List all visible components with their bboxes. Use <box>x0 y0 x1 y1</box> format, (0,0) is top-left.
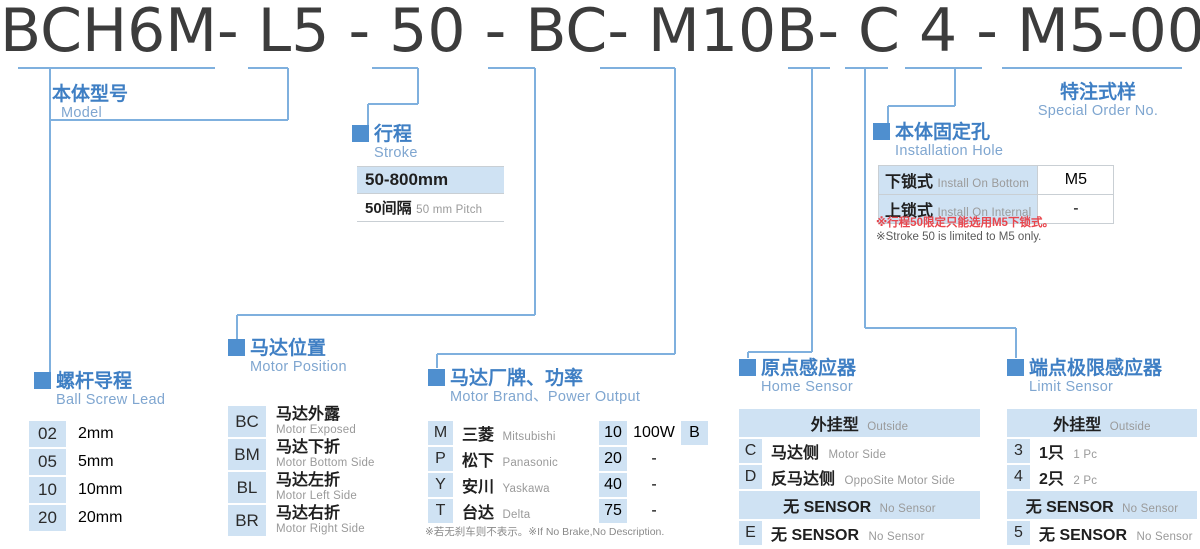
ball-screw-lead-row-1-value: 5mm <box>68 449 178 475</box>
section-home-sensor-title-cn: 原点感应器 <box>761 357 856 379</box>
limit-sensor-row-0-en: 1 Pc <box>1073 449 1097 461</box>
table-row: BM 马达下折 Motor Bottom Side <box>228 439 408 470</box>
ball-screw-lead-row-0-value: 2mm <box>68 421 178 447</box>
limit-sensor-row-1-cn: 2只 <box>1039 471 1064 488</box>
motor-brand-row-0-en: Mitsubishi <box>502 431 555 443</box>
motor-brand-row-2-code: Y <box>428 473 453 497</box>
motor-brand-row-2-cn: 安川 <box>462 479 494 496</box>
section-motor-brand: 马达厂牌、功率 Motor Brand、Power Output <box>428 368 640 406</box>
table-row: BR 马达右折 Motor Right Side <box>228 505 408 536</box>
table-row: Y 安川 Yaskawa 40 - <box>428 473 708 497</box>
section-motor-position-title-en: Motor Position <box>250 359 347 376</box>
bullet-square-icon <box>34 372 51 389</box>
home-sensor-row-2-desc: 无 SENSOR No Sensor <box>764 521 980 545</box>
section-motor-position-heading: 马达位置 <box>228 338 347 359</box>
table-row: 外挂型 Outside <box>739 409 980 437</box>
section-stroke-heading: 行程 <box>352 124 418 145</box>
home-sensor-row-0-cn: 马达侧 <box>771 445 819 462</box>
section-motor-brand-heading: 马达厂牌、功率 <box>428 368 640 389</box>
home-sensor-row-0-en: Motor Side <box>828 449 886 461</box>
section-motor-position: 马达位置 Motor Position <box>228 338 347 376</box>
model-code-diagram: BCH6M- L5 - 50 - BC- M10B- C 4 - M5-0001 <box>0 0 1200 549</box>
home-sensor-row-0-desc: 马达侧 Motor Side <box>764 439 980 463</box>
bullet-square-icon <box>739 359 756 376</box>
installation-hole-row-0-label: 下锁式 Install On Bottom <box>879 166 1038 195</box>
limit-sensor-row-2-code: 5 <box>1007 521 1030 545</box>
stroke-pitch-cn: 50间隔 <box>365 200 412 217</box>
table-row: 10 10mm <box>29 477 178 503</box>
limit-sensor-row-1-desc: 2只 2 Pc <box>1032 465 1197 489</box>
table-row: E 无 SENSOR No Sensor <box>739 521 980 545</box>
motor-position-row-3-code: BR <box>228 505 266 536</box>
section-limit-sensor-heading: 端点极限感应器 <box>1007 358 1162 379</box>
motor-brand-row-0-cn: 三菱 <box>462 427 494 444</box>
table-row: D 反马达侧 OppoSite Motor Side <box>739 465 980 489</box>
home-sensor-table: 外挂型 Outside C 马达侧 Motor Side D 反马达侧 Oppo… <box>737 407 982 547</box>
home-sensor-row-2-en: No Sensor <box>868 531 924 543</box>
installation-hole-notes: ※行程50限定只能选用M5下锁式。 ※Stroke 50 is limited … <box>876 216 1054 244</box>
motor-position-row-2-en: Motor Left Side <box>276 490 408 503</box>
ball-screw-lead-row-0-code: 02 <box>29 421 66 447</box>
section-installation-hole-title-en: Installation Hole <box>895 143 1003 160</box>
limit-sensor-group-2-en: No Sensor <box>1122 503 1178 515</box>
table-row: 5 无 SENSOR No Sensor <box>1007 521 1197 545</box>
bullet-square-icon <box>873 123 890 140</box>
stroke-pitch: 50间隔 50 mm Pitch <box>357 194 504 222</box>
limit-sensor-row-0-code: 3 <box>1007 439 1030 463</box>
limit-sensor-group-1-en: Outside <box>1110 421 1151 433</box>
limit-sensor-row-0-desc: 1只 1 Pc <box>1032 439 1197 463</box>
motor-position-row-1-cn: 马达下折 <box>276 439 408 457</box>
section-ball-screw-lead-title-cn: 螺杆导程 <box>56 370 132 392</box>
table-row: 下锁式 Install On Bottom M5 <box>879 166 1114 195</box>
limit-sensor-row-0-cn: 1只 <box>1039 445 1064 462</box>
stroke-table: 50-800mm 50间隔 50 mm Pitch <box>357 166 504 222</box>
table-row: 3 1只 1 Pc <box>1007 439 1197 463</box>
home-sensor-group-1-en: Outside <box>867 421 908 433</box>
section-installation-hole-heading: 本体固定孔 <box>873 122 1003 143</box>
motor-position-row-0-code: BC <box>228 406 266 437</box>
home-sensor-row-2-code: E <box>739 521 762 545</box>
table-row: BC 马达外露 Motor Exposed <box>228 406 408 437</box>
section-installation-hole-title-cn: 本体固定孔 <box>895 121 990 143</box>
home-sensor-row-2-cn: 无 SENSOR <box>771 527 859 544</box>
section-special-order-title-cn: 特注式样 <box>1008 82 1188 103</box>
stroke-pitch-en: 50 mm Pitch <box>416 204 482 216</box>
table-row: 4 2只 2 Pc <box>1007 465 1197 489</box>
bullet-square-icon <box>228 339 245 356</box>
limit-sensor-group-1-cn: 外挂型 <box>1053 417 1101 434</box>
motor-position-row-2-desc: 马达左折 Motor Left Side <box>268 472 408 503</box>
motor-brand-row-2-brand: 安川 Yaskawa <box>455 473 597 497</box>
home-sensor-group-2-header: 无 SENSOR No Sensor <box>739 491 980 519</box>
limit-sensor-group-2-cn: 无 SENSOR <box>1026 499 1114 516</box>
motor-position-row-3-desc: 马达右折 Motor Right Side <box>268 505 408 536</box>
motor-power-row-2-code: 40 <box>599 473 627 497</box>
installation-hole-note-en: ※Stroke 50 is limited to M5 only. <box>876 230 1054 244</box>
motor-position-row-1-en: Motor Bottom Side <box>276 457 408 470</box>
section-ball-screw-lead: 螺杆导程 Ball Screw Lead <box>34 371 165 409</box>
motor-brand-row-3-brand: 台达 Delta <box>455 499 597 523</box>
ball-screw-lead-row-2-value: 10mm <box>68 477 178 503</box>
ball-screw-lead-row-3-value: 20mm <box>68 505 178 531</box>
home-sensor-row-1-code: D <box>739 465 762 489</box>
section-model: 本体型号 Model <box>52 84 128 122</box>
table-row: 02 2mm <box>29 421 178 447</box>
motor-power-row-1-value: - <box>629 447 679 471</box>
motor-position-row-3-en: Motor Right Side <box>276 523 408 536</box>
section-home-sensor-heading: 原点感应器 <box>739 358 856 379</box>
section-installation-hole: 本体固定孔 Installation Hole <box>873 122 1003 160</box>
limit-sensor-row-2-en: No Sensor <box>1136 531 1192 543</box>
ball-screw-lead-table: 02 2mm 05 5mm 10 10mm 20 20mm <box>27 419 180 533</box>
motor-brake-row-2-code <box>681 473 708 497</box>
table-row: BL 马达左折 Motor Left Side <box>228 472 408 503</box>
section-motor-brand-title-cn: 马达厂牌、功率 <box>450 367 583 389</box>
motor-power-row-1-code: 20 <box>599 447 627 471</box>
table-row: C 马达侧 Motor Side <box>739 439 980 463</box>
motor-brand-row-1-cn: 松下 <box>462 453 494 470</box>
motor-brand-table: M 三菱 Mitsubishi 10 100W B P 松下 Panasonic… <box>426 419 710 525</box>
limit-sensor-group-2-header: 无 SENSOR No Sensor <box>1007 491 1197 519</box>
motor-position-row-2-code: BL <box>228 472 266 503</box>
section-home-sensor: 原点感应器 Home Sensor <box>739 358 856 396</box>
bullet-square-icon <box>352 125 369 142</box>
motor-position-row-2-cn: 马达左折 <box>276 472 408 490</box>
table-row: M 三菱 Mitsubishi 10 100W B <box>428 421 708 445</box>
section-stroke-title-en: Stroke <box>374 145 418 162</box>
motor-position-row-0-en: Motor Exposed <box>276 424 408 437</box>
section-special-order-title-en: Special Order No. <box>1008 103 1188 120</box>
section-model-title-cn: 本体型号 <box>52 84 128 105</box>
motor-brand-row-3-en: Delta <box>502 509 530 521</box>
motor-brand-row-3-code: T <box>428 499 453 523</box>
limit-sensor-row-2-desc: 无 SENSOR No Sensor <box>1032 521 1197 545</box>
motor-position-row-3-cn: 马达右折 <box>276 505 408 523</box>
motor-brand-row-3-cn: 台达 <box>462 505 494 522</box>
motor-position-row-0-cn: 马达外露 <box>276 406 408 424</box>
motor-brand-row-0-code: M <box>428 421 453 445</box>
limit-sensor-group-1-header: 外挂型 Outside <box>1007 409 1197 437</box>
section-stroke-title-cn: 行程 <box>374 123 412 145</box>
motor-brand-row-1-brand: 松下 Panasonic <box>455 447 597 471</box>
section-model-title-en: Model <box>61 105 128 122</box>
table-row: 20 20mm <box>29 505 178 531</box>
bullet-square-icon <box>428 369 445 386</box>
motor-position-row-0-desc: 马达外露 Motor Exposed <box>268 406 408 437</box>
table-row: 外挂型 Outside <box>1007 409 1197 437</box>
bullet-square-icon <box>1007 359 1024 376</box>
home-sensor-row-1-desc: 反马达侧 OppoSite Motor Side <box>764 465 980 489</box>
stroke-range: 50-800mm <box>357 166 504 194</box>
motor-position-row-1-code: BM <box>228 439 266 470</box>
motor-position-row-1-desc: 马达下折 Motor Bottom Side <box>268 439 408 470</box>
home-sensor-group-1-cn: 外挂型 <box>811 417 859 434</box>
section-motor-brand-title-en: Motor Brand、Power Output <box>450 389 640 406</box>
ball-screw-lead-row-3-code: 20 <box>29 505 66 531</box>
section-limit-sensor-title-en: Limit Sensor <box>1029 379 1162 396</box>
motor-brake-row-1-code <box>681 447 708 471</box>
motor-brand-row-1-en: Panasonic <box>502 457 558 469</box>
model-number: BCH6M- L5 - 50 - BC- M10B- C 4 - M5-0001 <box>0 0 1200 66</box>
home-sensor-row-1-cn: 反马达侧 <box>771 471 835 488</box>
home-sensor-group-2-cn: 无 SENSOR <box>783 499 871 516</box>
ball-screw-lead-row-2-code: 10 <box>29 477 66 503</box>
motor-brand-row-2-en: Yaskawa <box>502 483 549 495</box>
section-stroke: 行程 Stroke <box>352 124 418 162</box>
section-motor-position-title-cn: 马达位置 <box>250 337 326 359</box>
limit-sensor-row-2-cn: 无 SENSOR <box>1039 527 1127 544</box>
section-ball-screw-lead-title-en: Ball Screw Lead <box>56 392 165 409</box>
motor-power-row-3-code: 75 <box>599 499 627 523</box>
home-sensor-row-0-code: C <box>739 439 762 463</box>
motor-brake-row-3-code <box>681 499 708 523</box>
motor-power-row-3-value: - <box>629 499 679 523</box>
motor-brand-row-0-brand: 三菱 Mitsubishi <box>455 421 597 445</box>
motor-power-row-0-code: 10 <box>599 421 627 445</box>
table-row: 无 SENSOR No Sensor <box>1007 491 1197 519</box>
installation-hole-note-cn: ※行程50限定只能选用M5下锁式。 <box>876 216 1054 230</box>
motor-brand-note: ※若无刹车则不表示。※If No Brake,No Description. <box>425 524 664 539</box>
motor-power-row-2-value: - <box>629 473 679 497</box>
limit-sensor-table: 外挂型 Outside 3 1只 1 Pc 4 2只 2 Pc 无 SENSOR… <box>1005 407 1199 547</box>
ball-screw-lead-row-1-code: 05 <box>29 449 66 475</box>
home-sensor-row-1-en: OppoSite Motor Side <box>844 475 955 487</box>
table-row: 无 SENSOR No Sensor <box>739 491 980 519</box>
home-sensor-group-1-header: 外挂型 Outside <box>739 409 980 437</box>
section-home-sensor-title-en: Home Sensor <box>761 379 856 396</box>
installation-hole-row-0-en: Install On Bottom <box>937 178 1029 190</box>
motor-power-row-0-value: 100W <box>629 421 679 445</box>
installation-hole-row-0-cn: 下锁式 <box>885 174 933 191</box>
table-row: 05 5mm <box>29 449 178 475</box>
home-sensor-group-2-en: No Sensor <box>880 503 936 515</box>
table-row: P 松下 Panasonic 20 - <box>428 447 708 471</box>
limit-sensor-row-1-code: 4 <box>1007 465 1030 489</box>
section-ball-screw-lead-heading: 螺杆导程 <box>34 371 165 392</box>
section-special-order: 特注式样 Special Order No. <box>1008 82 1188 120</box>
section-limit-sensor-title-cn: 端点极限感应器 <box>1029 357 1162 379</box>
limit-sensor-row-1-en: 2 Pc <box>1073 475 1097 487</box>
installation-hole-row-0-value: M5 <box>1038 166 1114 195</box>
section-limit-sensor: 端点极限感应器 Limit Sensor <box>1007 358 1162 396</box>
motor-brand-row-1-code: P <box>428 447 453 471</box>
table-row: T 台达 Delta 75 - <box>428 499 708 523</box>
motor-brake-row-0-code: B <box>681 421 708 445</box>
motor-position-table: BC 马达外露 Motor Exposed BM 马达下折 Motor Bott… <box>226 404 410 538</box>
